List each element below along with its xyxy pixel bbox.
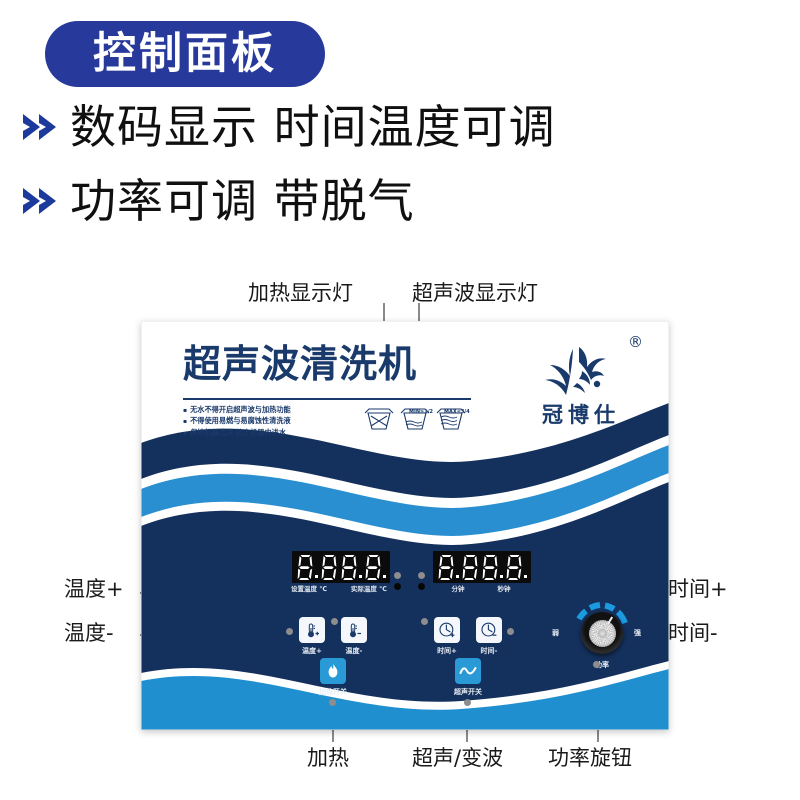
warning-list: 无水不得开启超声波与加热功能 不得使用易燃与易腐蚀性清洗液 保持机器洁净 防止机… xyxy=(183,404,291,438)
seven-segment-digit xyxy=(505,553,524,581)
connector-dot xyxy=(464,699,471,706)
callout-power-knob: 功率旋钮 xyxy=(548,742,632,772)
connector-dot xyxy=(421,618,428,625)
temp-plus-button-label: 温度+ xyxy=(291,646,333,656)
minutes-label: 分钟 xyxy=(452,583,465,593)
feature-row-1: 数码显示 时间温度可调 xyxy=(18,104,556,150)
time-plus-button-label: 时间+ xyxy=(426,646,468,656)
set-temperature-label: 设置温度 ℃ xyxy=(291,583,327,593)
temperature-display xyxy=(292,551,390,583)
knob-power-label: 功率 xyxy=(582,660,622,670)
flame-icon xyxy=(325,662,341,680)
power-knob[interactable] xyxy=(581,612,623,654)
seven-segment-digit xyxy=(437,553,456,581)
connector-dot xyxy=(593,661,600,668)
feature-text-2: 功率可调 带脱气 xyxy=(70,178,415,224)
feature-text-1: 数码显示 时间温度可调 xyxy=(70,104,556,150)
warning-item: 不得使用易燃与易腐蚀性清洗液 xyxy=(183,415,291,426)
decimal-point xyxy=(524,553,528,581)
chevron-double-right-icon xyxy=(18,104,64,150)
title-underline xyxy=(183,398,471,400)
connector-dot xyxy=(329,699,336,706)
seven-segment-digit xyxy=(320,553,339,581)
timer-display xyxy=(433,551,531,583)
decimal-point xyxy=(383,553,387,581)
feature-row-2: 功率可调 带脱气 xyxy=(18,178,415,224)
actual-temperature-label: 实际温度 ℃ xyxy=(351,583,387,593)
ultrasonic-switch-button-label: 超声开关 xyxy=(439,687,497,697)
decimal-point xyxy=(359,553,363,581)
control-panel: 超声波清洗机 无水不得开启超声波与加热功能 不得使用易燃与易腐蚀性清洗液 保持机… xyxy=(141,321,669,730)
registered-trademark-icon: ® xyxy=(628,333,643,351)
decimal-point xyxy=(315,553,319,581)
warning-item: 保持机器洁净 防止机器内进水 xyxy=(183,427,291,438)
callout-time-plus: 时间+ xyxy=(668,573,728,603)
power-knob-group[interactable]: 弱 强 功率 xyxy=(556,586,646,686)
sine-wave-icon xyxy=(459,663,477,679)
heat-switch-button-label: 加热开关 xyxy=(304,687,362,697)
heat-switch-button[interactable] xyxy=(320,658,346,684)
warning-item: 无水不得开启超声波与加热功能 xyxy=(183,404,291,415)
max-level-label: MAX≤3/4 xyxy=(444,409,470,415)
knob-weak-label: 弱 xyxy=(552,628,559,638)
ultrasonic-indicator-lamp xyxy=(418,583,425,590)
connector-dot xyxy=(331,618,338,625)
brand-name: 冠博仕 xyxy=(511,399,651,429)
seconds-label: 秒钟 xyxy=(498,583,511,593)
time-minus-button[interactable] xyxy=(476,617,502,643)
timer-display-labels: 分钟 秒钟 xyxy=(435,583,527,593)
callout-heat-lamp: 加热显示灯 xyxy=(248,277,353,307)
seven-segment-digit xyxy=(461,553,480,581)
wave-splash-logo-icon xyxy=(539,343,621,404)
product-title: 超声波清洗机 xyxy=(183,345,417,383)
time-plus-button[interactable] xyxy=(434,617,460,643)
connector-dot xyxy=(286,628,293,635)
decimal-point xyxy=(500,553,504,581)
temperature-display-labels: 设置温度 ℃ 实际温度 ℃ xyxy=(291,583,387,593)
page-title-badge: 控制面板 xyxy=(45,21,325,87)
temp-minus-button-label: 温度- xyxy=(333,646,375,656)
callout-ultrasonic-lamp: 超声波显示灯 xyxy=(412,277,538,307)
temp-plus-button[interactable] xyxy=(299,617,325,643)
min-level-label: MIN≥1/2 xyxy=(409,409,434,415)
ultrasonic-switch-button[interactable] xyxy=(455,658,481,684)
callout-ultrasonic-wave: 超声/变波 xyxy=(412,742,503,772)
callout-time-minus: 时间- xyxy=(668,617,718,647)
knob-strong-label: 强 xyxy=(634,628,641,638)
callout-heat: 加热 xyxy=(307,742,349,772)
seven-segment-digit xyxy=(296,553,315,581)
connector-dot xyxy=(507,628,514,635)
time-minus-button-label: 时间- xyxy=(468,646,510,656)
page-title: 控制面板 xyxy=(93,33,277,76)
seven-segment-digit xyxy=(364,553,383,581)
seven-segment-digit xyxy=(340,553,359,581)
power-knob-face xyxy=(589,620,616,647)
callout-temp-minus: 温度- xyxy=(64,617,114,647)
water-level-icons: MIN≥1/2 MAX≤3/4 xyxy=(363,407,473,440)
heat-indicator-lamp xyxy=(394,583,401,590)
chevron-double-right-icon xyxy=(18,178,64,224)
decimal-point xyxy=(456,553,460,581)
ultrasonic-indicator-lamp-dot xyxy=(418,572,425,579)
temp-minus-button[interactable] xyxy=(341,617,367,643)
header-section: 控制面板 数码显示 时间温度可调 功率可调 带脱气 xyxy=(0,0,800,250)
heat-indicator-lamp-dot xyxy=(394,572,401,579)
brand-logo-block: ® 冠博仕 xyxy=(511,331,651,419)
seven-segment-digit xyxy=(481,553,500,581)
callout-temp-plus: 温度+ xyxy=(64,573,124,603)
